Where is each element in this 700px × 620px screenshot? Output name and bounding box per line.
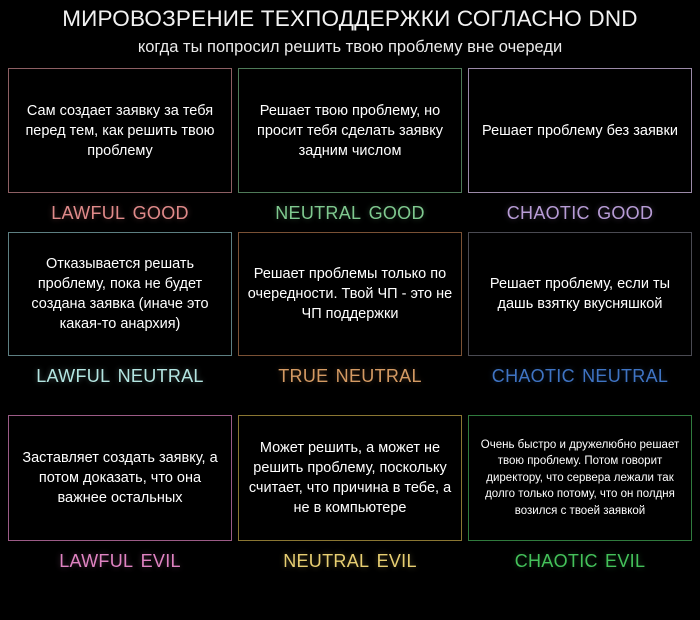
quote-text: Отказывается решать проблему, пока не бу… bbox=[17, 254, 223, 334]
alignment-cell-lawful-neutral: Отказывается решать проблему, пока не бу… bbox=[8, 226, 232, 408]
alignment-cell-neutral-good: Решает твою проблему, но просит тебя сде… bbox=[238, 60, 462, 226]
alignment-label: Chaotic Evil bbox=[468, 541, 692, 577]
quote-text: Решает проблему, если ты дашь взятку вку… bbox=[477, 274, 683, 314]
page-subtitle: когда ты попросил решить твою проблему в… bbox=[0, 34, 700, 60]
alignment-label: Chaotic Neutral bbox=[468, 356, 692, 392]
alignment-cell-true-neutral: Решает проблемы только по очередности. Т… bbox=[238, 226, 462, 408]
alignment-grid: Сам создает заявку за тебя перед тем, ка… bbox=[0, 60, 700, 593]
alignment-cell-chaotic-neutral: Решает проблему, если ты дашь взятку вку… bbox=[468, 226, 692, 408]
alignment-label: Lawful Evil bbox=[8, 541, 232, 577]
quote-panel: Сам создает заявку за тебя перед тем, ка… bbox=[8, 68, 232, 193]
alignment-cell-chaotic-evil: Очень быстро и дружелюбно решает твою пр… bbox=[468, 408, 692, 593]
alignment-label: Neutral Evil bbox=[238, 541, 462, 577]
quote-panel: Решает проблему без заявки bbox=[468, 68, 692, 193]
alignment-cell-lawful-good: Сам создает заявку за тебя перед тем, ка… bbox=[8, 60, 232, 226]
page-title: МИРОВОЗРЕНИЕ ТЕХПОДДЕРЖКИ СОГЛАСНО DND bbox=[0, 4, 700, 34]
alignment-label: True Neutral bbox=[238, 356, 462, 392]
meme-header: МИРОВОЗРЕНИЕ ТЕХПОДДЕРЖКИ СОГЛАСНО DND к… bbox=[0, 0, 700, 60]
alignment-label: Chaotic Good bbox=[468, 193, 692, 229]
quote-panel: Решает проблему, если ты дашь взятку вку… bbox=[468, 232, 692, 356]
quote-text: Решает проблемы только по очередности. Т… bbox=[247, 264, 453, 324]
quote-text: Заставляет создать заявку, а потом доказ… bbox=[17, 448, 223, 508]
quote-panel: Заставляет создать заявку, а потом доказ… bbox=[8, 415, 232, 541]
alignment-chart-meme: МИРОВОЗРЕНИЕ ТЕХПОДДЕРЖКИ СОГЛАСНО DND к… bbox=[0, 0, 700, 620]
quote-panel: Решает твою проблему, но просит тебя сде… bbox=[238, 68, 462, 193]
alignment-cell-lawful-evil: Заставляет создать заявку, а потом доказ… bbox=[8, 408, 232, 593]
quote-panel: Очень быстро и дружелюбно решает твою пр… bbox=[468, 415, 692, 541]
quote-text: Решает твою проблему, но просит тебя сде… bbox=[247, 101, 453, 161]
alignment-cell-neutral-evil: Может решить, а может не решить проблему… bbox=[238, 408, 462, 593]
alignment-label: Lawful Neutral bbox=[8, 356, 232, 392]
alignment-cell-chaotic-good: Решает проблему без заявки Chaotic Good bbox=[468, 60, 692, 226]
alignment-label: Lawful Good bbox=[8, 193, 232, 229]
alignment-label: Neutral Good bbox=[238, 193, 462, 229]
quote-text: Решает проблему без заявки bbox=[482, 121, 678, 141]
quote-panel: Решает проблемы только по очередности. Т… bbox=[238, 232, 462, 356]
quote-text: Сам создает заявку за тебя перед тем, ка… bbox=[17, 101, 223, 161]
quote-text: Очень быстро и дружелюбно решает твою пр… bbox=[477, 437, 683, 520]
quote-panel: Отказывается решать проблему, пока не бу… bbox=[8, 232, 232, 356]
quote-text: Может решить, а может не решить проблему… bbox=[247, 438, 453, 518]
quote-panel: Может решить, а может не решить проблему… bbox=[238, 415, 462, 541]
